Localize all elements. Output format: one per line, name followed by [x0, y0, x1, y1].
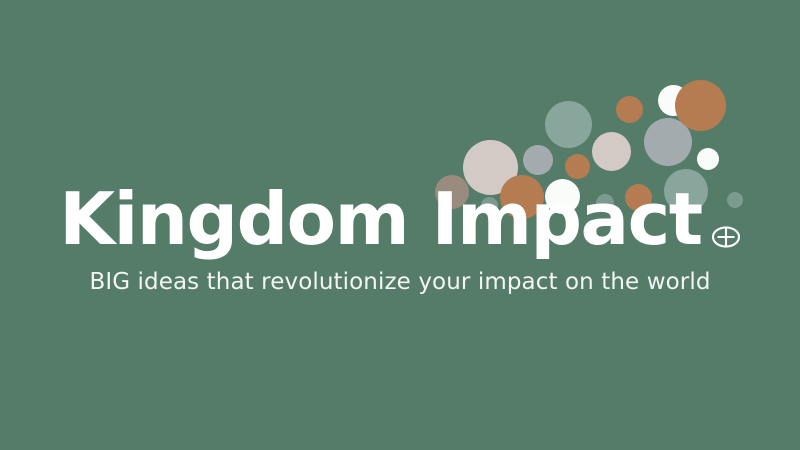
- tagline: BIG ideas that revolutionize your impact…: [0, 269, 800, 295]
- page-title: Kingdom Impact: [59, 186, 701, 252]
- decorative-circle: [565, 154, 590, 179]
- decorative-circle: [592, 132, 631, 171]
- decorative-circle: [523, 145, 553, 175]
- decorative-circle: [658, 85, 689, 116]
- kingdom-impact-title-card: Kingdom Impact BIG ideas that revolution…: [0, 0, 800, 450]
- decorative-circle: [545, 101, 592, 148]
- decorative-circle: [644, 118, 692, 166]
- decorative-circle: [697, 148, 719, 170]
- decorative-circle: [675, 80, 726, 131]
- brand-block: Kingdom Impact BIG ideas that revolution…: [0, 186, 800, 295]
- wordmark: Kingdom Impact: [0, 186, 800, 256]
- globe-icon: [711, 222, 741, 256]
- decorative-circle: [616, 96, 643, 123]
